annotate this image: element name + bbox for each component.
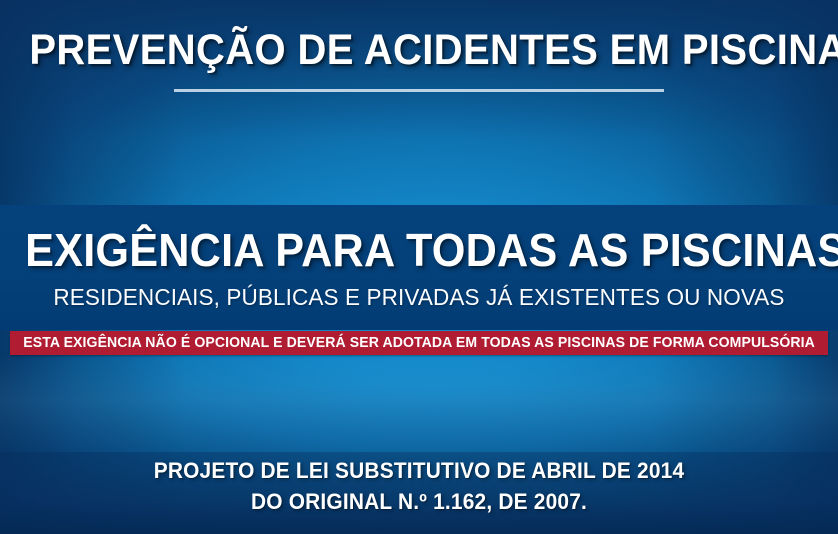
slide-footer: PROJETO DE LEI SUBSTITUTIVO DE ABRIL DE … xyxy=(0,455,838,517)
footer-line-1: PROJETO DE LEI SUBSTITUTIVO DE ABRIL DE … xyxy=(21,455,817,486)
band-subheading: RESIDENCIAIS, PÚBLICAS E PRIVADAS JÁ EXI… xyxy=(8,283,829,311)
alert-banner-text: ESTA EXIGÊNCIA NÃO É OPCIONAL E DEVERÁ S… xyxy=(23,335,815,352)
highlight-band: EXIGÊNCIA PARA TODAS AS PISCINAS RESIDEN… xyxy=(0,205,838,330)
title-divider xyxy=(174,89,664,92)
presentation-slide: PREVENÇÃO DE ACIDENTES EM PISCINAS EXIGÊ… xyxy=(0,0,838,534)
band-heading: EXIGÊNCIA PARA TODAS AS PISCINAS xyxy=(25,221,813,279)
footer-line-2: DO ORIGINAL N.º 1.162, DE 2007. xyxy=(21,486,817,517)
slide-header: PREVENÇÃO DE ACIDENTES EM PISCINAS xyxy=(0,24,838,92)
alert-banner: ESTA EXIGÊNCIA NÃO É OPCIONAL E DEVERÁ S… xyxy=(10,331,828,355)
slide-background-sheen xyxy=(0,355,838,455)
page-title: PREVENÇÃO DE ACIDENTES EM PISCINAS xyxy=(29,24,808,76)
